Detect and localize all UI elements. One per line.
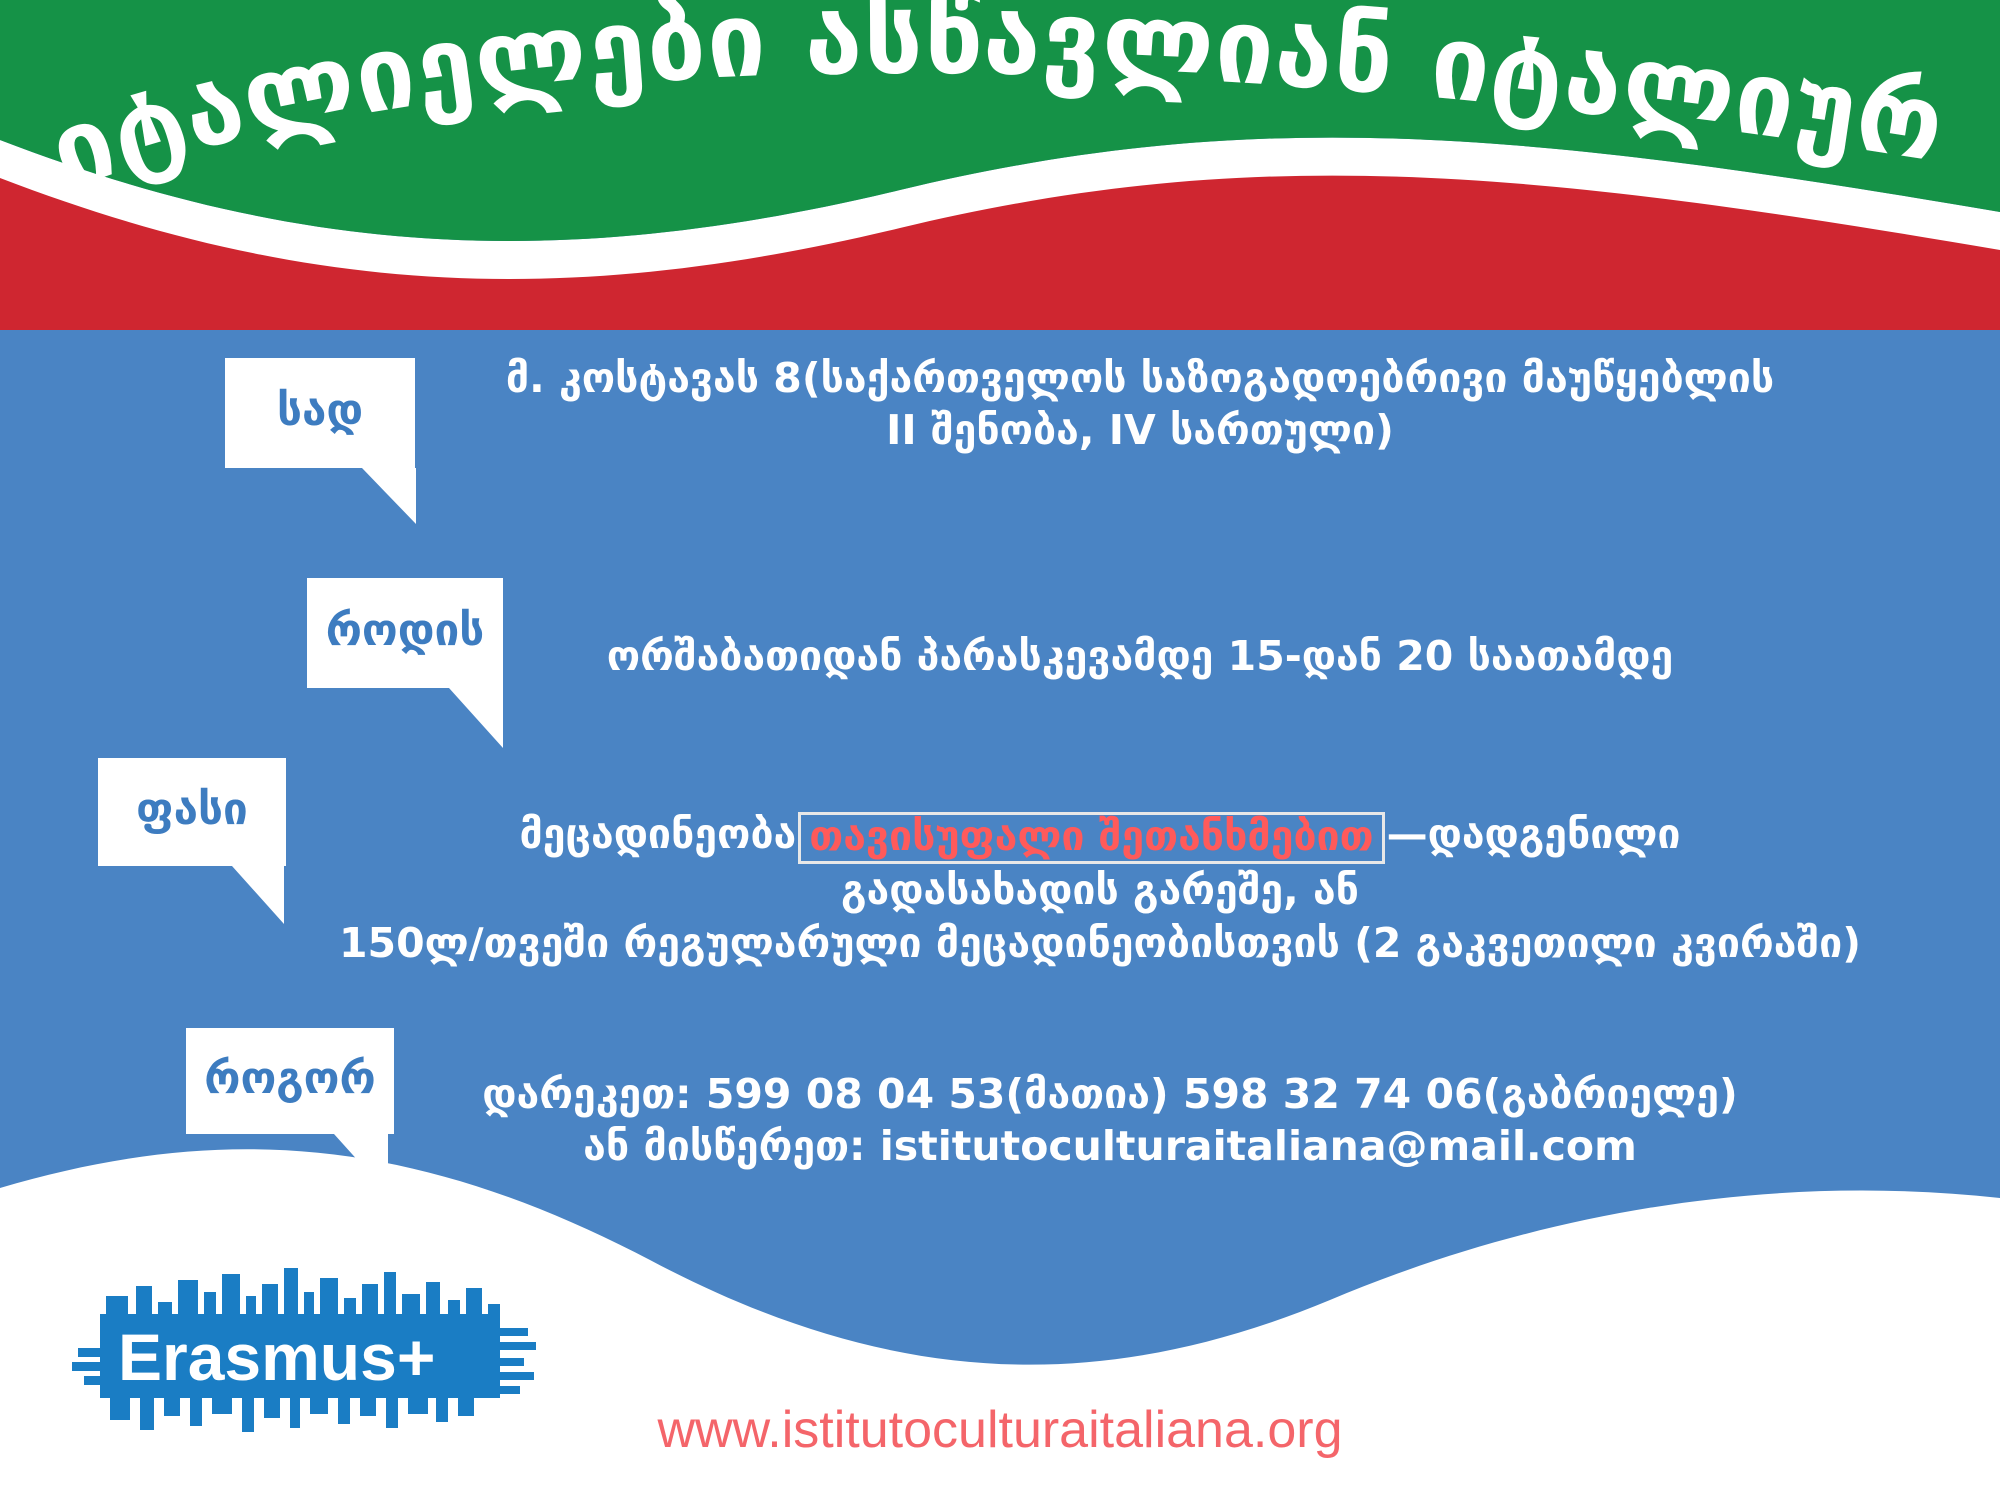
price-prefix: მეცადინეობა bbox=[519, 810, 796, 858]
price-suffix: —დადგენილი bbox=[1387, 810, 1681, 858]
bubble-price-tail bbox=[232, 866, 284, 924]
bubble-when-tail bbox=[449, 688, 503, 748]
price-line-1: მეცადინეობათავისუფალი შეთანხმებით—დადგენ… bbox=[300, 808, 1900, 864]
price-highlight: თავისუფალი შეთანხმებით bbox=[798, 812, 1384, 864]
bubble-how-label: როგორ bbox=[204, 1057, 376, 1101]
erasmus-plus-logo-text: Erasmus+ bbox=[118, 1320, 435, 1394]
bubble-price-label: ფასი bbox=[136, 788, 248, 832]
where-text: მ. კოსტავას 8(საქართველოს საზოგადოებრივი… bbox=[440, 352, 1840, 457]
header-wave-shapes bbox=[0, 0, 2000, 330]
where-text-line-2: II შენობა, IV სართული) bbox=[440, 404, 1840, 456]
header-banner: იტალიელები ასწავლიან იტალიურ ენას bbox=[0, 0, 2000, 330]
where-text-line-1: მ. კოსტავას 8(საქართველოს საზოგადოებრივი… bbox=[440, 352, 1840, 404]
price-line-2: გადასახადის გარეშე, ან bbox=[300, 864, 1900, 916]
website-url[interactable]: www.istitutoculturaitaliana.org bbox=[0, 1400, 2000, 1460]
bubble-where-tail bbox=[362, 468, 416, 524]
bubble-price: ფასი bbox=[98, 758, 286, 866]
content-area: სად მ. კოსტავას 8(საქართველოს საზოგადოებ… bbox=[0, 330, 2000, 1230]
bubble-where: სად bbox=[225, 358, 415, 468]
price-line-3: 150ლ/თვეში რეგულარული მეცადინეობისთვის (… bbox=[300, 917, 1900, 969]
price-text: მეცადინეობათავისუფალი შეთანხმებით—დადგენ… bbox=[300, 808, 1900, 969]
bubble-where-label: სად bbox=[277, 389, 363, 433]
when-text: ორშაბათიდან პარასკევამდე 15-დან 20 საათა… bbox=[440, 630, 1840, 682]
poster-canvas: იტალიელები ასწავლიან იტალიურ ენას სად მ.… bbox=[0, 0, 2000, 1500]
when-text-line-1: ორშაბათიდან პარასკევამდე 15-დან 20 საათა… bbox=[440, 630, 1840, 682]
